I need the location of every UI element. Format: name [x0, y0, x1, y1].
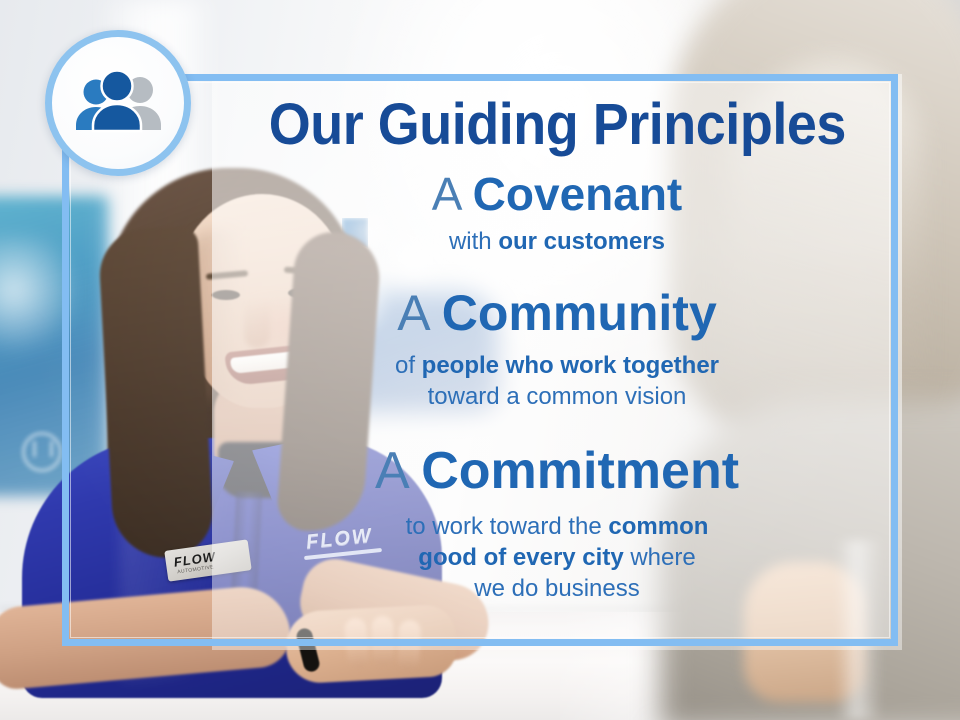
principle-keyword: Community [442, 285, 717, 341]
content-block: Our Guiding Principles A Covenant with o… [212, 74, 902, 646]
principle-keyword: Commitment [421, 442, 739, 500]
people-group-icon [70, 70, 166, 136]
subtext-line: with our customers [212, 226, 902, 257]
principle-subtext: of people who work together toward a com… [212, 350, 902, 412]
subtext-span: we do business [474, 575, 639, 602]
subtext-span-bold: good of every city [418, 544, 623, 571]
subtext-span: where [624, 544, 696, 571]
marketing-banner: FLOW AUTOMOTIVE FLOW [0, 0, 960, 720]
subtext-span: toward a common vision [428, 383, 687, 410]
principle-subtext: with our customers [212, 226, 902, 257]
subtext-span: with [449, 228, 498, 255]
principle-community: A Community of people who work together … [212, 287, 902, 412]
subtext-span: to work toward the [406, 513, 609, 540]
people-group-icon-badge [45, 30, 191, 176]
principle-headline: A Community [212, 287, 902, 340]
principle-article: A [397, 285, 428, 341]
principle-article: A [432, 168, 460, 220]
principle-commitment: A Commitment to work toward the common g… [212, 444, 902, 604]
principle-covenant: A Covenant with our customers [212, 170, 902, 257]
principle-subtext: to work toward the common good of every … [212, 511, 902, 605]
principle-article: A [375, 442, 407, 500]
subtext-span-bold: people who work together [422, 352, 719, 379]
subtext-line: good of every city where [212, 542, 902, 573]
employee-hair-left [97, 226, 214, 561]
subtext-line: to work toward the common [212, 511, 902, 542]
subtext-span: of [395, 352, 422, 379]
subtext-line: toward a common vision [212, 381, 902, 412]
page-title: Our Guiding Principles [268, 96, 845, 154]
principle-headline: A Covenant [212, 170, 902, 218]
principle-headline: A Commitment [212, 444, 902, 499]
subtext-span-bold: common [608, 513, 708, 540]
subtext-span-bold: our customers [498, 228, 665, 255]
principle-keyword: Covenant [473, 168, 683, 220]
subtext-line: we do business [212, 573, 902, 604]
subtext-line: of people who work together [212, 350, 902, 381]
